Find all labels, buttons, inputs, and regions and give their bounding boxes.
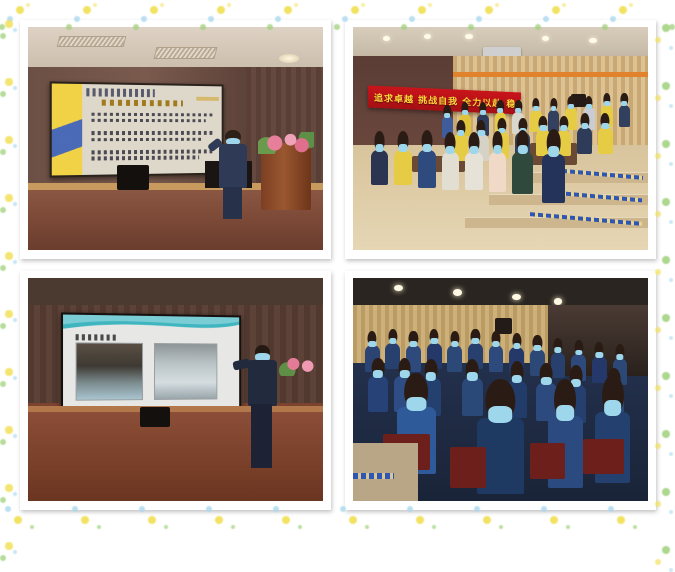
photo-card-top-right[interactable]: 追求卓越 挑战自我 全力以赴 稳步前行 <box>345 20 656 259</box>
presenter-body <box>248 360 278 407</box>
photo-bottom-right <box>353 278 648 501</box>
presenter <box>217 130 249 219</box>
floor <box>353 443 418 501</box>
photo-card-bottom-left[interactable] <box>20 271 331 510</box>
loudspeaker-icon <box>117 165 149 190</box>
downlight-icon <box>554 298 563 305</box>
ceiling <box>28 278 323 305</box>
slide-text-line <box>91 149 214 154</box>
decorative-dot <box>13 550 17 554</box>
presenter-body <box>219 144 248 189</box>
ceiling-vent-icon <box>153 47 217 59</box>
slide-image-right <box>154 342 218 400</box>
decorative-dot <box>0 555 6 561</box>
projection-screen <box>49 81 223 177</box>
seat <box>450 447 485 487</box>
photo-bottom-left <box>28 278 323 501</box>
seat <box>530 443 565 479</box>
spotlight-icon <box>279 54 300 63</box>
flower-arrangement <box>279 354 320 376</box>
decorative-dot <box>655 559 661 565</box>
presenter <box>246 345 278 468</box>
slide-text-line <box>91 112 212 116</box>
slide-image-left <box>76 342 143 401</box>
photo-top-left <box>28 27 323 250</box>
slide-text-line <box>91 137 202 141</box>
slide-heading <box>85 88 154 96</box>
photo-card-top-left[interactable] <box>20 20 331 259</box>
floor-stripe <box>353 473 394 479</box>
photo-top-right: 追求卓越 挑战自我 全力以赴 稳步前行 <box>353 27 648 250</box>
slide-corner-tag <box>196 96 219 101</box>
stage-edge <box>28 406 323 412</box>
stage-floor <box>28 407 323 501</box>
photo-collage-page: 追求卓越 挑战自我 全力以赴 稳步前行 <box>0 0 675 532</box>
downlight-icon <box>465 34 473 39</box>
seat <box>583 439 624 475</box>
slide-text-line <box>91 155 199 160</box>
slide-title <box>101 99 182 106</box>
ceiling-vent-icon <box>56 36 126 47</box>
slide-text-line <box>91 131 215 135</box>
decorative-dot <box>662 546 670 554</box>
slide-text-line <box>91 118 206 122</box>
decorative-dot <box>669 568 674 572</box>
presenter-legs <box>251 404 272 468</box>
decorative-dot <box>5 542 12 549</box>
flower-arrangement <box>258 132 314 154</box>
downlight-icon <box>453 289 462 296</box>
orange-wall-band <box>453 72 648 78</box>
slide-ribbon-graphic <box>51 83 81 175</box>
loudspeaker-icon <box>140 407 170 427</box>
slide-title <box>76 334 116 340</box>
photo-card-bottom-right[interactable] <box>345 271 656 510</box>
presenter-legs <box>223 187 242 219</box>
photo-grid: 追求卓越 挑战自我 全力以赴 稳步前行 <box>20 20 656 510</box>
